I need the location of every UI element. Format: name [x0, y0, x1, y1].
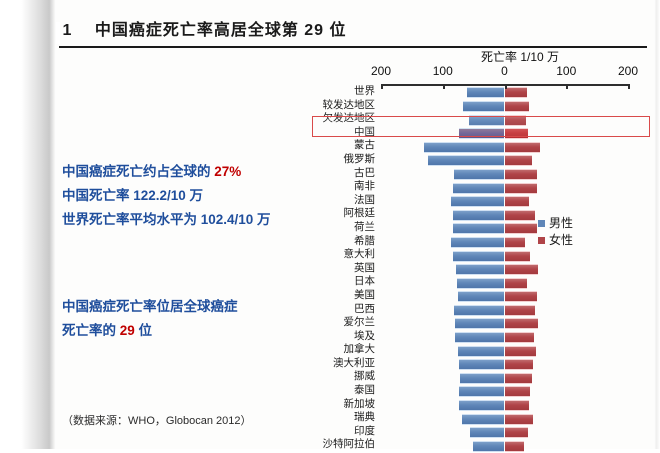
row-label-2: 欠发达地区 — [295, 112, 375, 126]
legend-item-female: 女性 — [538, 232, 608, 249]
bar-male-10 — [453, 223, 504, 234]
bar-female-4 — [505, 142, 541, 153]
x-tick-mark-1 — [443, 84, 445, 89]
row-label-15: 美国 — [295, 289, 375, 303]
bar-row: 爱尔兰 — [300, 317, 656, 331]
bar-male-7 — [453, 183, 505, 194]
bar-male-2 — [469, 115, 505, 126]
bar-female-8 — [505, 196, 530, 207]
row-label-16: 巴西 — [295, 303, 375, 317]
bar-male-14 — [457, 278, 505, 289]
bar-male-23 — [459, 400, 504, 411]
bar-female-20 — [505, 359, 533, 370]
bar-row: 意大利 — [300, 249, 656, 263]
page-title: 图 1 中国癌症死亡率高居全球第 29 位 — [40, 17, 640, 47]
legend-label-male: 男性 — [549, 215, 573, 232]
x-axis-tick-labels: 2001000100200 — [300, 64, 656, 80]
bar-row: 蒙古 — [300, 140, 656, 154]
row-label-10: 荷兰 — [295, 221, 375, 235]
stat-line-world-rate: 世界死亡率平均水平为 102.4/10 万 — [62, 208, 314, 232]
stat-rank-suffix: 位 — [135, 323, 152, 338]
bar-row: 世界 — [300, 86, 656, 100]
legend-label-female: 女性 — [549, 232, 573, 249]
bar-male-19 — [458, 346, 505, 357]
x-tick-mark-3 — [566, 84, 568, 89]
bar-female-10 — [505, 223, 537, 234]
bar-male-25 — [470, 427, 505, 438]
bar-female-2 — [505, 115, 527, 126]
stats-block-rank: 中国癌症死亡率位居全球癌症 死亡率的 29 位 — [62, 295, 314, 343]
chart-legend: 男性 女性 — [538, 215, 608, 249]
bar-row: 日本 — [300, 276, 656, 290]
bar-row: 南非 — [300, 181, 656, 195]
bar-male-16 — [454, 305, 504, 316]
bar-male-4 — [424, 142, 504, 153]
x-tick-2: 0 — [501, 64, 508, 78]
stat-rank-value: 29 — [120, 323, 135, 338]
bar-female-21 — [505, 373, 533, 384]
bar-male-20 — [459, 359, 505, 370]
bar-female-19 — [505, 346, 536, 357]
bar-female-11 — [505, 237, 526, 248]
bar-male-13 — [456, 264, 504, 275]
legend-swatch-female — [538, 237, 545, 244]
bar-female-18 — [505, 332, 535, 343]
x-tick-mark-2 — [505, 84, 507, 89]
bar-female-5 — [505, 155, 532, 166]
bar-female-6 — [505, 169, 537, 180]
bar-row: 俄罗斯 — [300, 154, 656, 168]
bar-male-6 — [454, 169, 505, 180]
page-left-shadow — [0, 0, 56, 449]
stat-rank-line1: 中国癌症死亡率位居全球癌症 — [62, 295, 314, 319]
bar-male-12 — [453, 251, 505, 262]
row-label-0: 世界 — [295, 85, 375, 99]
row-label-1: 较发达地区 — [295, 99, 375, 113]
bar-female-23 — [505, 400, 530, 411]
bar-male-17 — [455, 318, 504, 329]
x-tick-0: 200 — [371, 64, 391, 78]
x-tick-1: 100 — [433, 64, 453, 78]
bar-male-24 — [462, 414, 505, 425]
bar-male-11 — [451, 237, 504, 248]
row-label-23: 新加坡 — [295, 398, 375, 412]
row-label-12: 意大利 — [295, 248, 375, 262]
row-label-19: 加拿大 — [295, 343, 375, 357]
axis-title: 死亡率 1/10 万 — [420, 48, 620, 65]
row-label-9: 阿根廷 — [295, 207, 375, 221]
bar-female-12 — [505, 251, 530, 262]
bar-female-16 — [505, 305, 535, 316]
bar-female-1 — [505, 101, 529, 112]
bar-female-25 — [505, 427, 528, 438]
bar-female-7 — [505, 183, 537, 194]
bar-female-13 — [505, 264, 539, 275]
row-label-25: 印度 — [295, 425, 375, 439]
bar-row: 瑞典 — [300, 412, 656, 426]
bar-male-0 — [467, 87, 505, 98]
bar-row: 欠发达地区 — [300, 113, 656, 127]
row-label-24: 瑞典 — [295, 411, 375, 425]
row-label-17: 爱尔兰 — [295, 316, 375, 330]
legend-swatch-male — [538, 220, 545, 227]
bar-male-3 — [459, 128, 504, 139]
row-label-20: 澳大利亚 — [295, 357, 375, 371]
x-tick-4: 200 — [618, 64, 638, 78]
row-label-22: 泰国 — [295, 384, 375, 398]
row-label-6: 古巴 — [295, 167, 375, 181]
x-tick-mark-4 — [628, 84, 630, 89]
row-label-5: 俄罗斯 — [295, 153, 375, 167]
source-note: （数据来源：WHO，Globocan 2012） — [62, 412, 252, 428]
bar-female-26 — [505, 441, 524, 452]
row-label-21: 挪威 — [295, 370, 375, 384]
bar-female-3 — [505, 128, 528, 139]
bar-row: 加拿大 — [300, 344, 656, 358]
bar-female-22 — [505, 386, 531, 397]
bar-male-15 — [458, 291, 505, 302]
row-label-13: 英国 — [295, 262, 375, 276]
bar-female-24 — [505, 414, 533, 425]
stats-block-primary: 中国癌症死亡约占全球的 27% 中国死亡率 122.2/10 万 世界死亡率平均… — [62, 160, 314, 232]
bar-female-9 — [505, 210, 535, 221]
stat-line-china-rate: 中国死亡率 122.2/10 万 — [62, 184, 314, 208]
x-tick-mark-0 — [381, 84, 383, 89]
bar-row: 美国 — [300, 290, 656, 304]
slide-page: 图 1 中国癌症死亡率高居全球第 29 位 中国癌症死亡约占全球的 27% 中国… — [0, 0, 660, 449]
bar-male-5 — [428, 155, 505, 166]
bar-male-18 — [455, 332, 504, 343]
page-right-edge — [654, 0, 660, 449]
stat-rank-prefix: 死亡率的 — [62, 323, 120, 338]
bar-male-26 — [473, 441, 504, 452]
row-label-26: 沙特阿拉伯 — [295, 438, 375, 452]
bar-row: 沙特阿拉伯 — [300, 439, 656, 453]
bar-female-14 — [505, 278, 528, 289]
row-label-7: 南非 — [295, 180, 375, 194]
bar-female-0 — [505, 87, 528, 98]
bar-male-8 — [451, 196, 504, 207]
stat-rank-line2: 死亡率的 29 位 — [62, 319, 314, 343]
bar-rows: 世界较发达地区欠发达地区中国蒙古俄罗斯古巴南非法国阿根廷荷兰希腊意大利英国日本美… — [300, 86, 656, 453]
bar-male-9 — [453, 210, 505, 221]
bar-female-15 — [505, 291, 537, 302]
title-text: 中国癌症死亡率高居全球第 29 位 — [95, 22, 347, 39]
legend-item-male: 男性 — [538, 215, 608, 232]
row-label-4: 蒙古 — [295, 139, 375, 153]
left-arrow-icon — [15, 18, 38, 52]
bar-female-17 — [505, 318, 538, 329]
row-label-11: 希腊 — [295, 235, 375, 249]
figure-label: 图 1 — [40, 22, 72, 39]
bar-male-1 — [463, 101, 504, 112]
row-label-8: 法国 — [295, 194, 375, 208]
row-label-18: 埃及 — [295, 330, 375, 344]
stat-share-value: 27% — [214, 164, 241, 179]
row-label-14: 日本 — [295, 275, 375, 289]
row-label-3: 中国 — [295, 126, 375, 140]
stat-share-prefix: 中国癌症死亡约占全球的 — [62, 164, 214, 179]
bar-row: 泰国 — [300, 385, 656, 399]
stat-line-share: 中国癌症死亡约占全球的 27% — [62, 160, 314, 184]
bar-male-22 — [459, 386, 504, 397]
x-tick-3: 100 — [556, 64, 576, 78]
bar-male-21 — [460, 373, 504, 384]
